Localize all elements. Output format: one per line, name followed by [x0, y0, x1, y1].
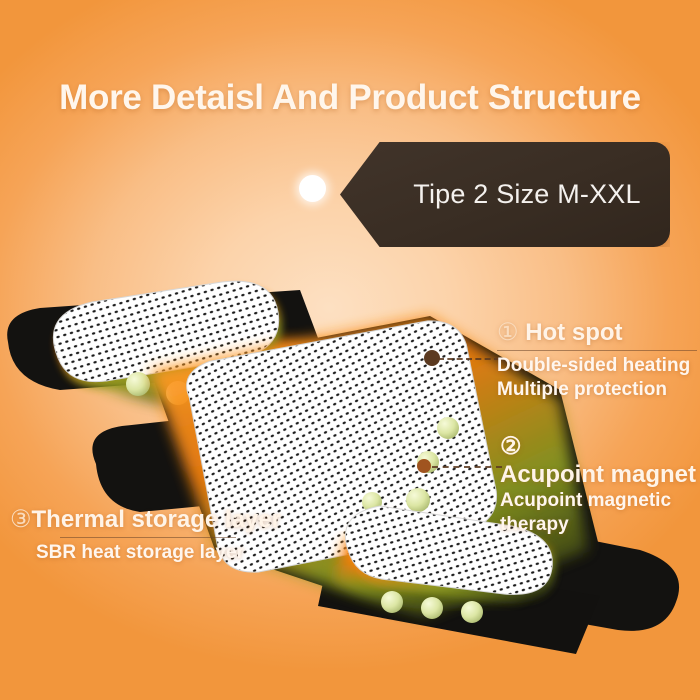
- page-title: More Detaisl And Product Structure: [0, 78, 700, 118]
- callout-1-number: ①: [497, 319, 519, 346]
- callout-3-title: Thermal storage layer: [32, 506, 281, 533]
- callout-3-heading: ③Thermal storage layer: [10, 505, 320, 534]
- callout-thermal-storage: ③Thermal storage layer SBR heat storage …: [10, 505, 320, 565]
- callout-2-line-1: Acupoint magnetic: [500, 489, 698, 513]
- size-tag-label: Tipe 2 Size M-XXL: [369, 179, 640, 210]
- callout-hot-spot: ① Hot spot Double-sided heating Multiple…: [497, 318, 697, 403]
- leader-line-acupoint: [432, 466, 502, 468]
- leader-line-hot-spot: [438, 358, 500, 360]
- callout-1-heading: ① Hot spot: [497, 318, 697, 347]
- callout-1-line-1: Double-sided heating: [497, 354, 697, 378]
- callout-2-number: ②: [500, 432, 698, 461]
- size-tag-banner: Tipe 2 Size M-XXL: [340, 142, 670, 247]
- callout-3-line-1: SBR heat storage layer: [10, 541, 320, 565]
- callout-1-line-2: Multiple protection: [497, 378, 697, 402]
- callout-1-title: Hot spot: [525, 319, 622, 346]
- callout-3-number: ③: [10, 506, 32, 533]
- product-detail-poster: More Detaisl And Product Structure Tipe …: [0, 0, 700, 700]
- callout-2-line-2: therapy: [500, 513, 698, 537]
- callout-acupoint-magnet: ② Acupoint magnet Acupoint magnetic ther…: [500, 432, 698, 538]
- callout-1-divider: [497, 350, 697, 351]
- callout-3-divider: [60, 537, 236, 538]
- callout-2-title: Acupoint magnet: [500, 461, 698, 489]
- tag-bullet-dot: [299, 175, 326, 202]
- acupoint-marker: [417, 459, 431, 473]
